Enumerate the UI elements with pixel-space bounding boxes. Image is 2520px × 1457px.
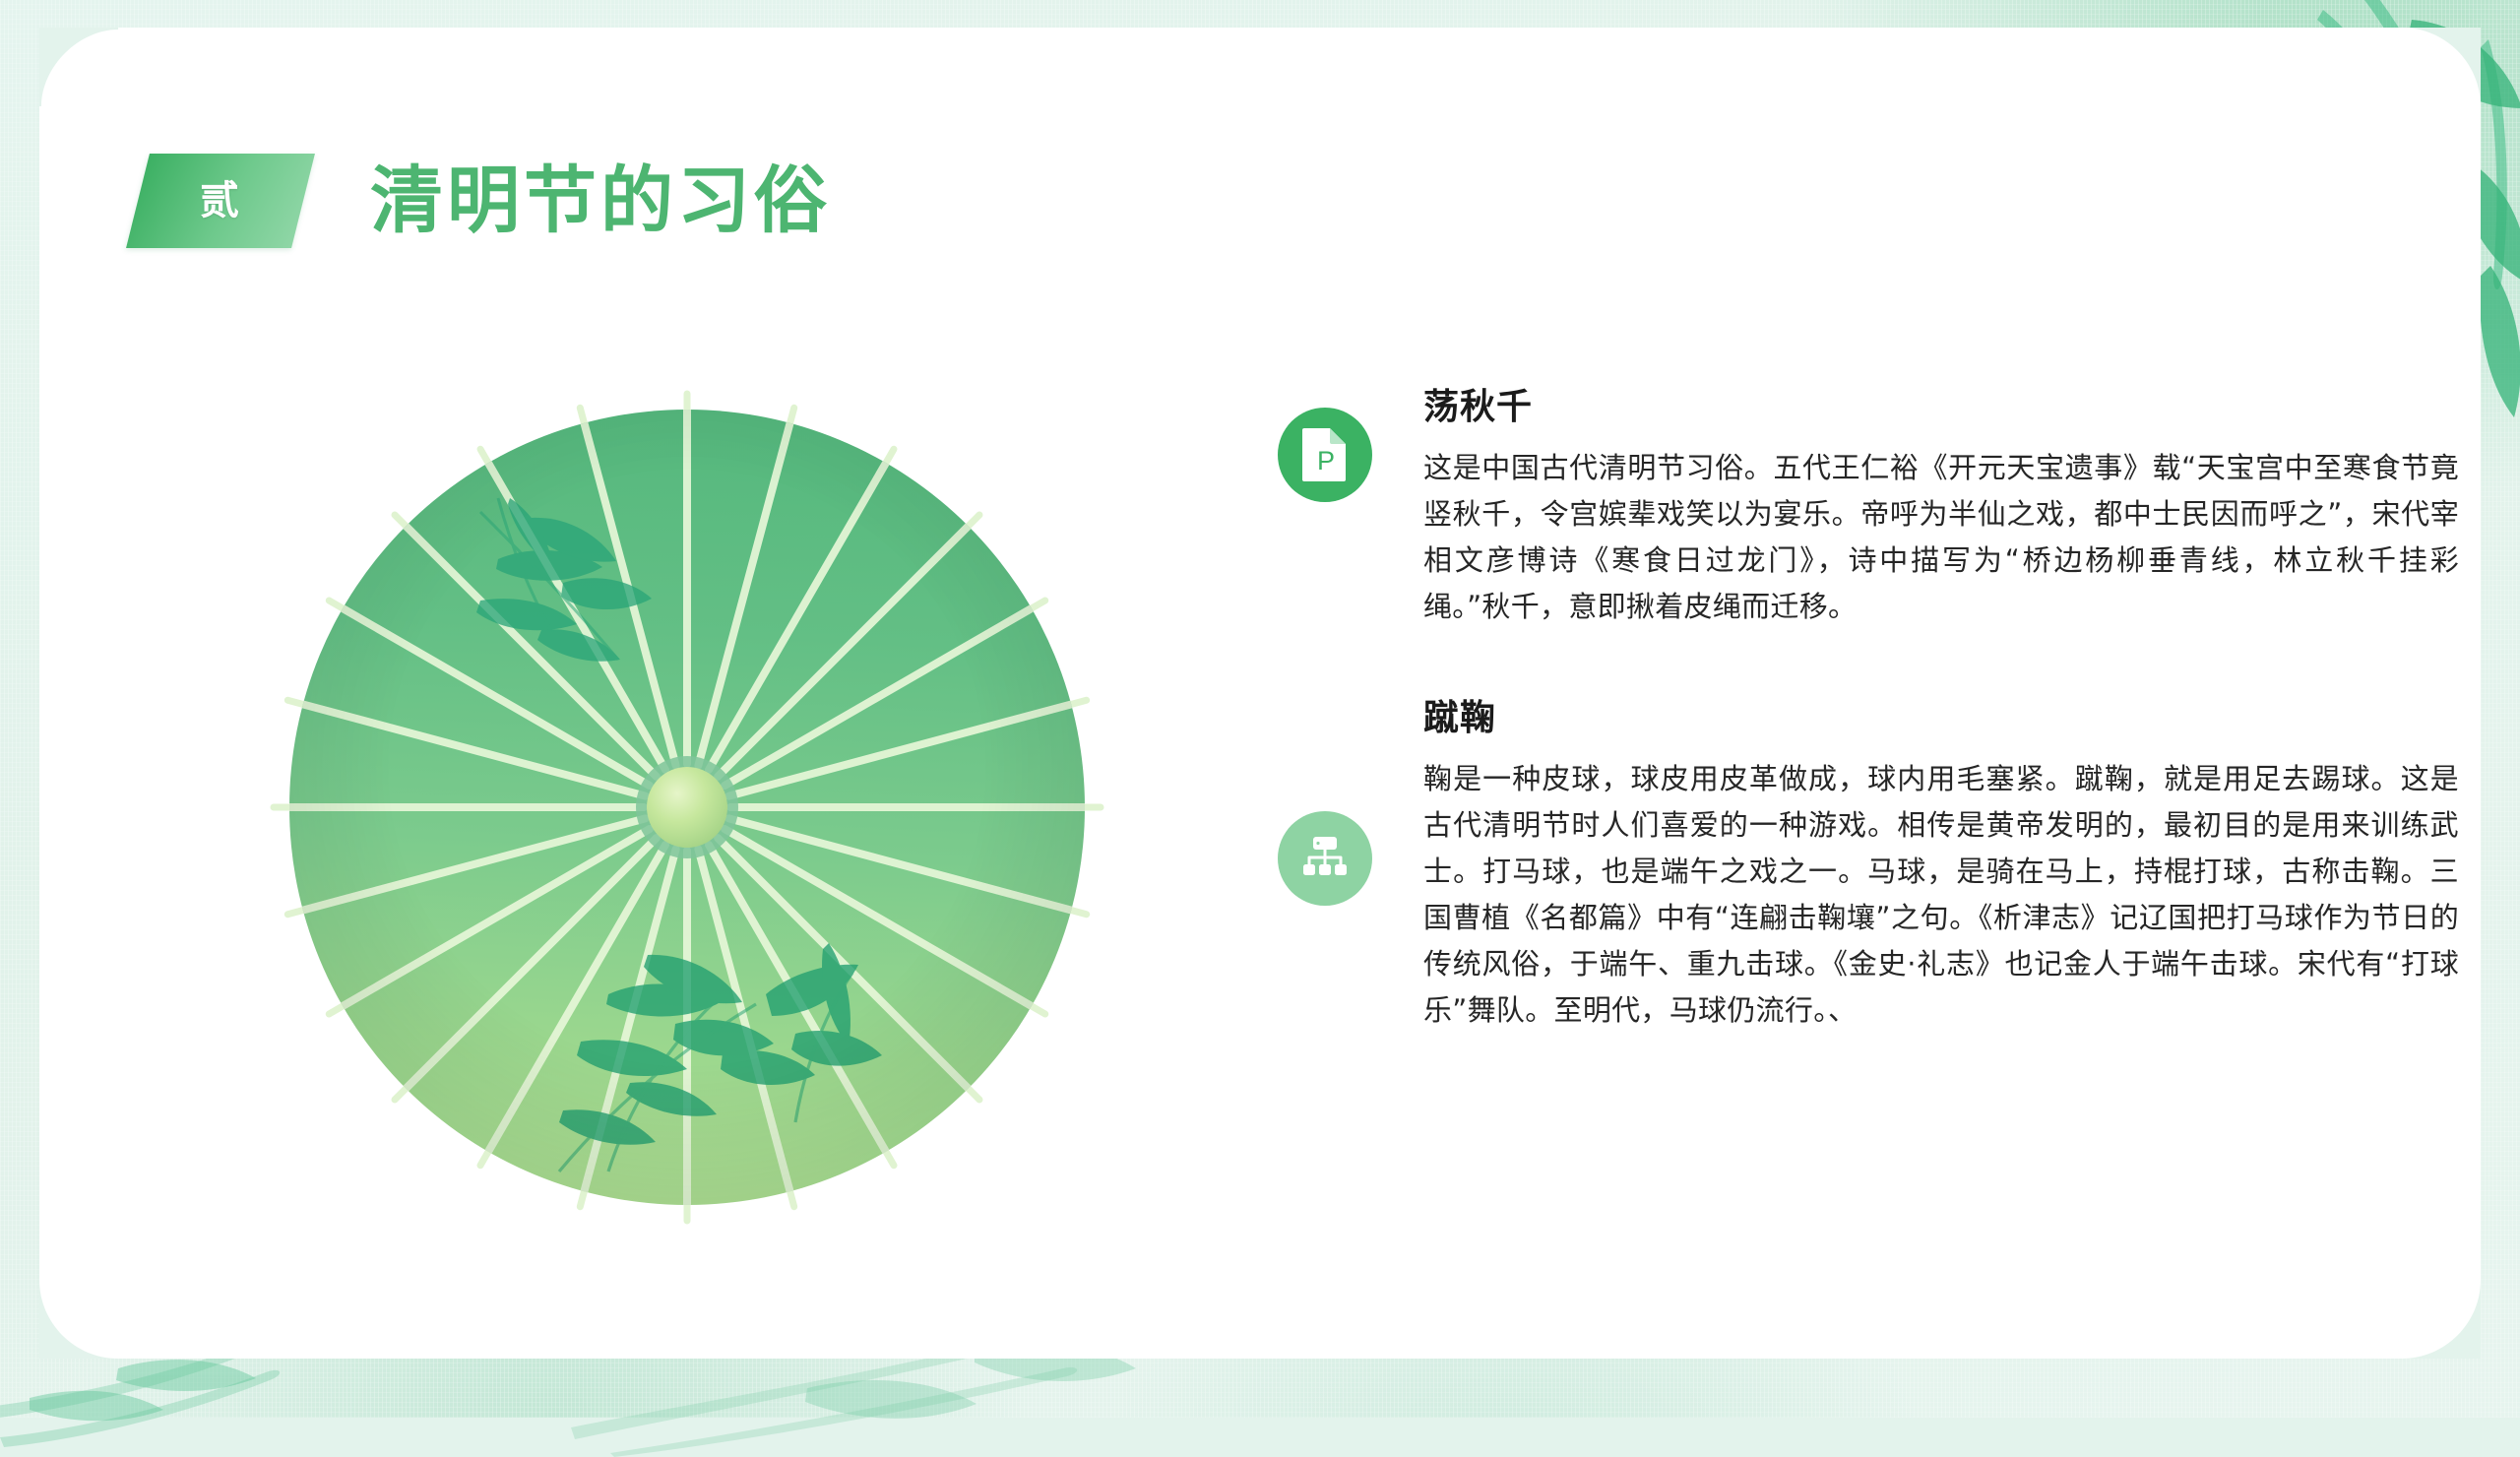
custom-item-swing: P 荡秋千 这是中国古代清明节习俗。五代王仁裕《开元天宝遗事》载“天宝宫中至寒食… bbox=[1278, 390, 2459, 630]
card-corner-bottom-right bbox=[2402, 1280, 2481, 1359]
custom-item-text: 鞠是一种皮球，球皮用皮革做成，球内用毛塞紧。蹴鞠，就是用足去踢球。这是古代清明节… bbox=[1423, 756, 2459, 1034]
slide-header: 贰 清明节的习俗 bbox=[138, 154, 831, 248]
umbrella-svg bbox=[185, 305, 1189, 1309]
section-number-label: 贰 bbox=[200, 181, 241, 221]
card-corner-top-right bbox=[2402, 28, 2481, 106]
umbrella-illustration bbox=[185, 305, 1189, 1309]
content-column: P 荡秋千 这是中国古代清明节习俗。五代王仁裕《开元天宝遗事》载“天宝宫中至寒食… bbox=[1278, 390, 2459, 1089]
document-p-icon[interactable]: P bbox=[1278, 408, 1372, 502]
page-title: 清明节的习俗 bbox=[370, 164, 831, 237]
custom-item-cuju: 蹴鞠 鞠是一种皮球，球皮用皮革做成，球内用毛塞紧。蹴鞠，就是用足去踢球。这是古代… bbox=[1278, 701, 2459, 1034]
slide-card: 贰 清明节的习俗 bbox=[39, 28, 2481, 1359]
card-corner-top-left bbox=[39, 28, 118, 106]
card-corner-bottom-left bbox=[39, 1280, 118, 1359]
umbrella-hub bbox=[647, 767, 727, 848]
section-number-badge: 贰 bbox=[126, 154, 315, 248]
org-chart-icon[interactable] bbox=[1278, 811, 1372, 906]
custom-item-text: 这是中国古代清明节习俗。五代王仁裕《开元天宝遗事》载“天宝宫中至寒食节竟竖秋千，… bbox=[1423, 445, 2459, 630]
svg-text:P: P bbox=[1317, 446, 1335, 475]
org-chart-icon-glyph bbox=[1299, 834, 1351, 883]
document-p-icon-glyph: P bbox=[1300, 426, 1350, 483]
custom-item-title: 蹴鞠 bbox=[1423, 701, 2459, 736]
custom-item-title: 荡秋千 bbox=[1423, 390, 2459, 425]
custom-item-body: 蹴鞠 鞠是一种皮球，球皮用皮革做成，球内用毛塞紧。蹴鞠，就是用足去踢球。这是古代… bbox=[1423, 701, 2459, 1034]
custom-item-body: 荡秋千 这是中国古代清明节习俗。五代王仁裕《开元天宝遗事》载“天宝宫中至寒食节竟… bbox=[1423, 390, 2459, 630]
